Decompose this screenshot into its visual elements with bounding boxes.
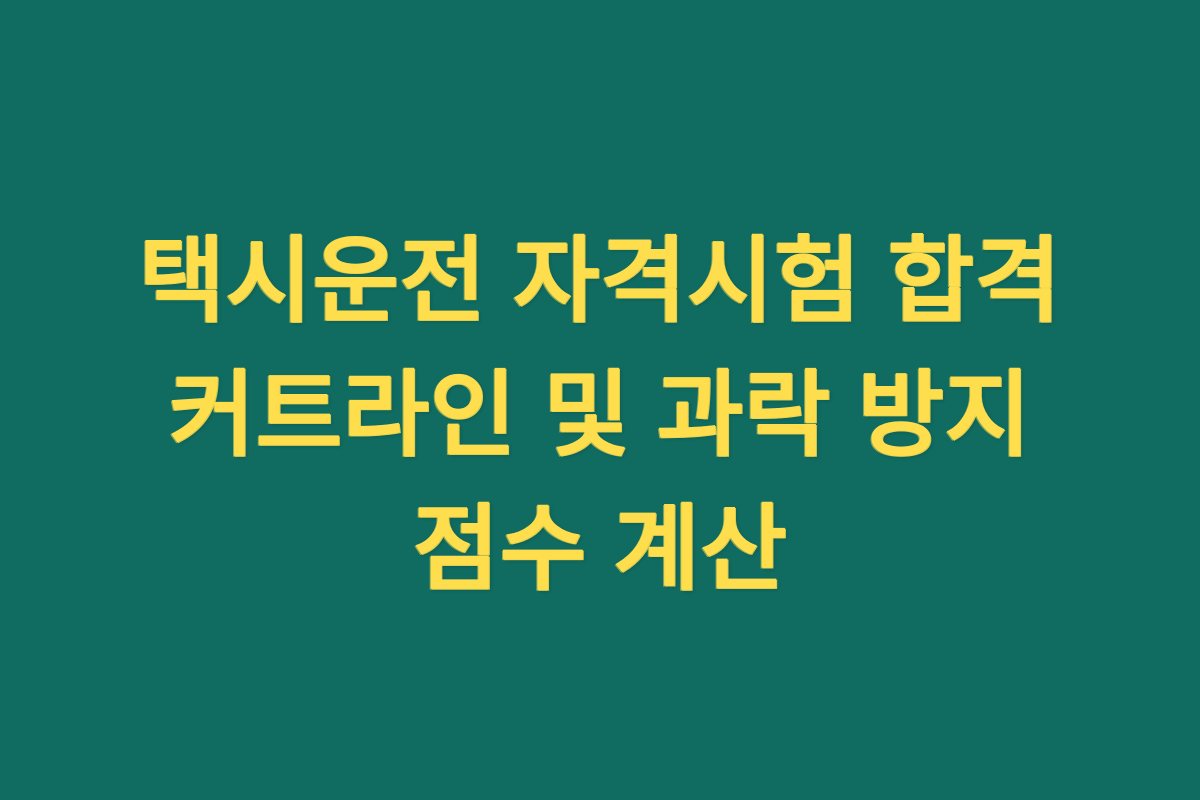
banner-title-line-1: 택시운전 자격시험 합격 — [40, 214, 1160, 348]
banner-title-block: 택시운전 자격시험 합격 커트라인 및 과락 방지 점수 계산 — [0, 214, 1200, 616]
banner-title-line-3: 점수 계산 — [40, 482, 1160, 616]
thumbnail-banner: 택시운전 자격시험 합격 커트라인 및 과락 방지 점수 계산 — [0, 0, 1200, 800]
banner-title-line-2: 커트라인 및 과락 방지 — [40, 348, 1160, 482]
